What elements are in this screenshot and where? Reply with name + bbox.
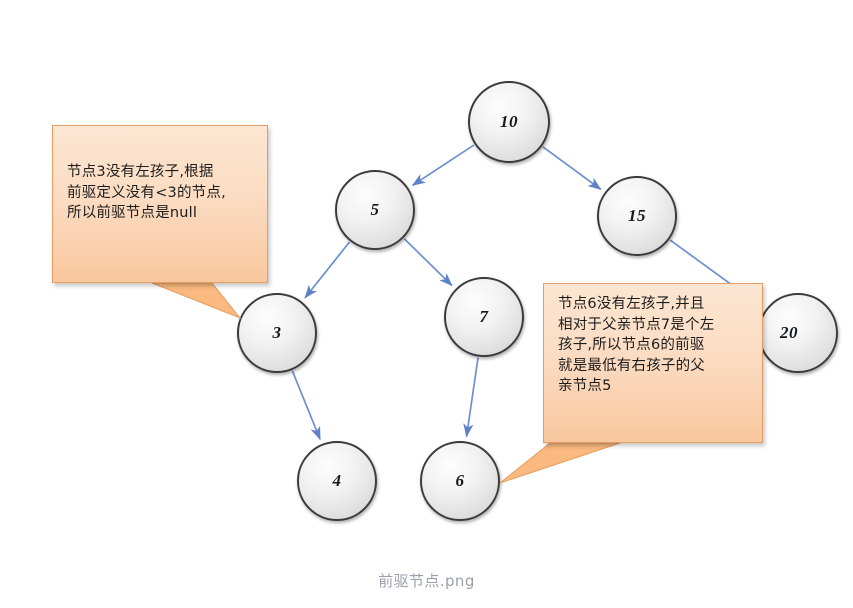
tree-node-4[interactable]: 4 — [297, 441, 377, 521]
figure-caption: 前驱节点.png — [0, 570, 853, 591]
tree-edge — [543, 147, 601, 190]
callout-node3: 节点3没有左孩子,根据 前驱定义没有<3的节点, 所以前驱节点是null — [52, 125, 268, 283]
callout-node6: 节点6没有左孩子,并且 相对于父亲节点7是个左 孩子,所以节点6的前驱 就是最低… — [543, 283, 763, 443]
tree-edge — [413, 145, 474, 185]
tree-node-3[interactable]: 3 — [237, 293, 317, 373]
tree-node-20[interactable]: 20 — [758, 293, 838, 373]
tree-node-label: 3 — [273, 323, 282, 343]
tree-node-6[interactable]: 6 — [420, 441, 500, 521]
tree-edge — [292, 371, 320, 439]
callout-node3-tail — [152, 283, 240, 318]
tree-node-label: 10 — [500, 112, 518, 132]
tree-node-label: 20 — [780, 323, 798, 343]
tree-node-15[interactable]: 15 — [597, 176, 677, 256]
tree-node-7[interactable]: 7 — [444, 277, 524, 357]
tree-edge — [467, 358, 479, 437]
callout-node6-tail — [500, 443, 620, 483]
tree-node-label: 15 — [628, 206, 646, 226]
tree-edge — [404, 239, 452, 286]
tree-node-label: 4 — [333, 471, 342, 491]
callout-node3-text: 节点3没有左孩子,根据 前驱定义没有<3的节点, 所以前驱节点是null — [67, 162, 253, 224]
tree-node-label: 7 — [480, 307, 489, 327]
tree-node-label: 6 — [456, 471, 465, 491]
callout-node6-text: 节点6没有左孩子,并且 相对于父亲节点7是个左 孩子,所以节点6的前驱 就是最低… — [558, 294, 748, 397]
diagram-canvas: 10 5 15 3 7 20 4 6 节点3没有左孩子,根据 前驱定义没有<3的… — [0, 0, 853, 608]
tree-node-5[interactable]: 5 — [335, 170, 415, 250]
tree-node-label: 5 — [371, 200, 380, 220]
tree-edge — [305, 242, 349, 298]
tree-node-10[interactable]: 10 — [468, 81, 550, 163]
